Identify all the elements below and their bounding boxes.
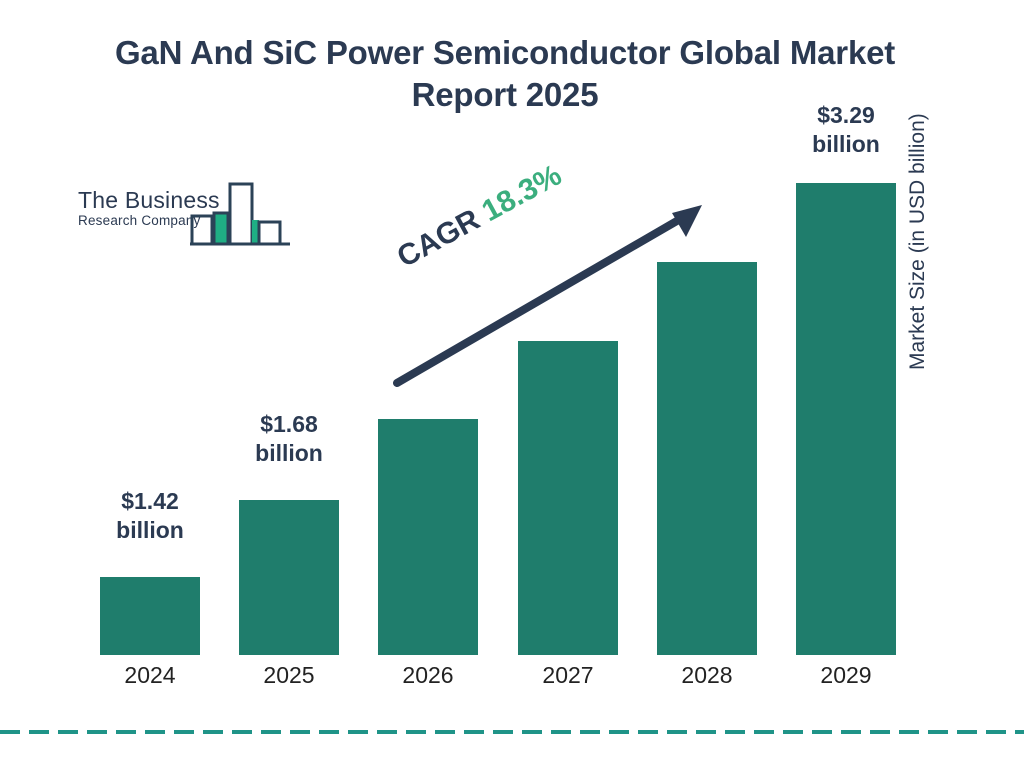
x-tick-2029: 2029 (781, 662, 911, 689)
bar-2026 (378, 419, 478, 655)
bar-2024 (100, 577, 200, 655)
bar-value-2024: $1.42 billion (85, 487, 215, 546)
x-tick-2026: 2026 (363, 662, 493, 689)
x-tick-2028: 2028 (642, 662, 772, 689)
x-tick-2027: 2027 (503, 662, 633, 689)
x-tick-2024: 2024 (85, 662, 215, 689)
growth-arrow-icon (380, 185, 720, 400)
chart-canvas: GaN And SiC Power Semiconductor Global M… (0, 0, 1024, 768)
bar-value-2029: $3.29 billion (781, 101, 911, 160)
y-axis-label: Market Size (in USD billion) (906, 40, 930, 370)
bar-value-2025: $1.68 billion (224, 410, 354, 469)
bar-2025 (239, 500, 339, 655)
x-tick-2025: 2025 (224, 662, 354, 689)
footer-divider (0, 730, 1024, 734)
bar-2029 (796, 183, 896, 655)
